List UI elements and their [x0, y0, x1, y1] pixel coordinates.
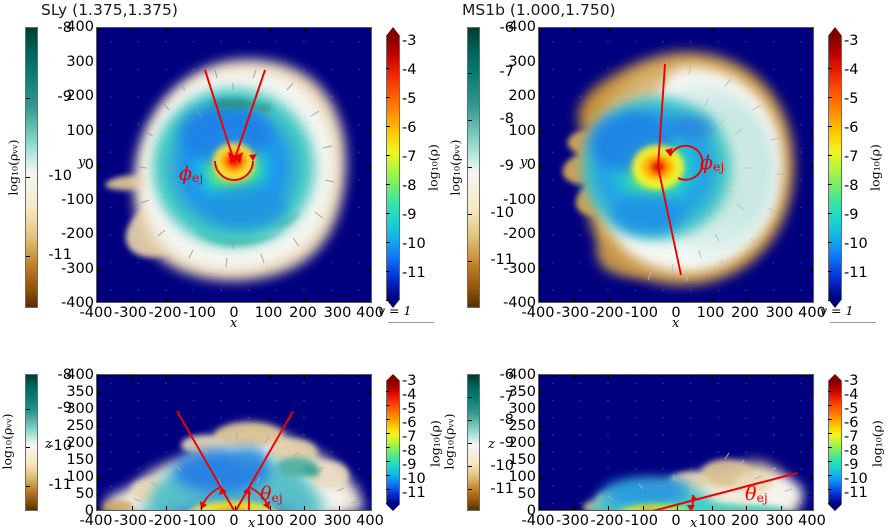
xtick-label-7-bottom-left: 300	[324, 513, 352, 529]
wind-cbar-label-top-right: log₁₀(ρᵥᵥ)	[448, 125, 463, 211]
panel-top-left: SLy (1.375,1.375) -8 -9 -10 -11 log₁₀(ρᵥ…	[0, 0, 445, 330]
density-colorbar-bottom-left	[386, 374, 400, 511]
xaxis-label-top-right: x	[672, 316, 679, 331]
theta-symbol-bottom-right: θ	[745, 483, 756, 505]
ztick-label-1-bottom-right: 50	[500, 486, 536, 502]
ytick-label-5-top-left: 100	[58, 123, 94, 139]
theta-ejecta-label-bottom-left: θej	[260, 483, 283, 505]
panel-title-top-left: SLy (1.375,1.375)	[41, 1, 178, 19]
xtick-label-6-bottom-right: 200	[731, 513, 759, 529]
xtick-label-7-top-left: 300	[324, 305, 352, 321]
density-map-bottom-left[interactable]	[96, 374, 372, 511]
phi-ejecta-angle-annotation-top-left	[97, 28, 371, 302]
density-cbar-label-bottom-right: log₁₀(ρ)	[870, 401, 885, 487]
ytick-label-7-top-left: 300	[58, 54, 94, 70]
ztick-label-6-bottom-left: 300	[58, 401, 94, 417]
density-cbar-tick-1-top-right: -4	[844, 62, 858, 78]
theta-symbol-bottom-left: θ	[260, 483, 271, 505]
xtick-label-6-top-right: 200	[731, 305, 759, 321]
density-cbar-label-text-bottom-right: log₁₀(ρ)	[870, 420, 885, 467]
ztick-label-4-bottom-left: 200	[58, 435, 94, 451]
zaxis-label-bottom-right: z	[488, 437, 495, 452]
theta-ejecta-angle-annotation-bottom-left	[97, 375, 371, 510]
xtick-label-0-bottom-left: -400	[80, 513, 113, 529]
phi-symbol-top-left: ϕ	[179, 163, 192, 185]
xtick-label-6-top-left: 200	[289, 305, 317, 321]
density-cbar-label-top-left: log₁₀(ρ)	[426, 125, 441, 211]
xtick-label-0-top-right: -400	[522, 305, 555, 321]
density-cbar-tick-8-top-left: -11	[402, 265, 426, 281]
ztick-label-3-bottom-right: 150	[500, 452, 536, 468]
theta-ejecta-label-bottom-right: θej	[745, 483, 768, 505]
quiver-key-label-top-right: v = 1	[820, 303, 853, 318]
xtick-label-8-bottom-left: 400	[356, 513, 384, 529]
density-cbar-tick-1-top-left: -4	[402, 62, 416, 78]
quiver-key-bar-top-right	[830, 322, 876, 323]
xtick-label-3-bottom-right: -100	[625, 513, 658, 529]
xtick-label-2-bottom-left: -200	[149, 513, 182, 529]
wind-cbar-label-bottom-right: log₁₀(ρᵥᵥ)	[442, 399, 457, 485]
ztick-label-7-bottom-left: 350	[58, 384, 94, 400]
density-cbar-tick-3-top-left: -6	[402, 120, 416, 136]
phi-ejecta-angle-annotation-top-right	[539, 28, 813, 302]
density-cbar-tick-4-top-right: -7	[844, 149, 858, 165]
velocity-quiver-bottom-right	[539, 375, 813, 510]
xtick-label-8-bottom-right: 400	[798, 513, 826, 529]
ztick-label-8-bottom-left: 400	[58, 367, 94, 383]
ytick-label-1-top-right: -300	[492, 261, 536, 277]
xtick-label-2-top-right: -200	[591, 305, 624, 321]
xtick-label-1-bottom-left: -300	[114, 513, 147, 529]
ytick-label-8-top-right: 400	[500, 19, 536, 35]
ztick-label-2-bottom-left: 100	[58, 469, 94, 485]
xtick-label-3-bottom-left: -100	[183, 513, 216, 529]
phi-subscript-top-right: ej	[713, 159, 724, 174]
xtick-label-6-bottom-left: 200	[289, 513, 317, 529]
ytick-label-3-top-right: -100	[492, 192, 536, 208]
xtick-label-2-top-left: -200	[149, 305, 182, 321]
xtick-label-5-bottom-left: 100	[256, 513, 284, 529]
density-cbar-label-text-bottom-left: log₁₀(ρ)	[428, 420, 443, 467]
theta-ejecta-angle-annotation-bottom-right	[539, 375, 813, 510]
xtick-label-2-bottom-right: -200	[591, 513, 624, 529]
density-map-bottom-right[interactable]	[538, 374, 814, 511]
density-cbar-tick-8-top-right: -11	[844, 265, 868, 281]
xtick-label-7-bottom-right: 300	[766, 513, 794, 529]
ytick-label-8-top-left: 400	[58, 19, 94, 35]
density-cbar-tick-8-bottom-left: -11	[402, 485, 426, 501]
density-cbar-label-bottom-left: log₁₀(ρ)	[428, 401, 443, 487]
quiver-key-label-top-left: v = 1	[378, 303, 411, 318]
figure-root: SLy (1.375,1.375) -8 -9 -10 -11 log₁₀(ρᵥ…	[0, 0, 890, 529]
xtick-label-3-top-left: -100	[183, 305, 216, 321]
velocity-quiver-top-right	[539, 28, 813, 302]
ztick-label-6-bottom-right: 300	[500, 401, 536, 417]
ejecta-field-bottom-left	[97, 375, 371, 510]
yaxis-label-top-right: y	[520, 155, 527, 170]
ejecta-field-top-left	[97, 28, 371, 302]
ztick-label-2-bottom-right: 100	[500, 469, 536, 485]
xtick-label-7-top-right: 300	[766, 305, 794, 321]
ytick-label-6-top-right: 200	[500, 88, 536, 104]
ytick-label-7-top-right: 300	[500, 54, 536, 70]
phi-ejecta-label-top-left: ϕej	[179, 163, 203, 185]
panel-bottom-right: -6 -7 -8 -9 -10 -11 log₁₀(ρᵥᵥ) 400 350 3…	[445, 364, 890, 529]
xaxis-label-top-left: x	[230, 316, 237, 331]
xtick-label-1-top-right: -300	[556, 305, 589, 321]
xtick-label-5-top-right: 100	[697, 305, 725, 321]
density-cbar-tick-6-top-left: -9	[402, 207, 416, 223]
density-cbar-tick-5-top-right: -8	[844, 178, 858, 194]
ztick-label-3-bottom-left: 150	[58, 452, 94, 468]
ytick-label-4-top-right: 0	[500, 157, 536, 173]
velocity-quiver-bottom-left	[97, 375, 371, 510]
zaxis-label-bottom-left: z	[45, 437, 52, 452]
wind-cbar-label-top-left: log₁₀(ρᵥᵥ)	[6, 125, 21, 211]
density-cbar-label-text-top-left: log₁₀(ρ)	[426, 144, 441, 191]
density-cbar-tick-0-top-right: -3	[844, 33, 858, 49]
density-cbar-tick-3-top-right: -6	[844, 120, 858, 136]
ytick-label-3-top-left: -100	[50, 192, 94, 208]
quiver-key-bar-top-left	[388, 322, 434, 323]
ztick-label-1-bottom-left: 50	[58, 486, 94, 502]
ejecta-field-top-right	[539, 28, 813, 302]
density-map-top-right[interactable]	[538, 27, 814, 303]
density-cbar-tick-7-top-left: -10	[402, 236, 426, 252]
density-colorbar-top-right	[828, 27, 842, 308]
phi-subscript-top-left: ej	[192, 170, 203, 185]
xtick-label-5-bottom-right: 100	[698, 513, 726, 529]
density-cbar-tick-8-bottom-right: -11	[844, 485, 868, 501]
ytick-label-1-top-left: -300	[50, 261, 94, 277]
ztick-label-8-bottom-right: 400	[500, 367, 536, 383]
density-cbar-tick-6-top-right: -9	[844, 207, 858, 223]
density-cbar-label-text-top-right: log₁₀(ρ)	[868, 144, 883, 191]
density-cbar-tick-7-top-right: -10	[844, 236, 868, 252]
panel-bottom-left: -8 -9 -10 -11 log₁₀(ρᵥᵥ) 400 350 300 250…	[0, 364, 445, 529]
ztick-label-7-bottom-right: 350	[500, 384, 536, 400]
panel-top-right: MS1b (1.000,1.750) -6 -7 -8 -9 -10 -11 l…	[445, 0, 890, 330]
ytick-label-2-top-right: -200	[492, 226, 536, 242]
ytick-label-6-top-left: 200	[58, 88, 94, 104]
density-cbar-label-top-right: log₁₀(ρ)	[868, 125, 883, 211]
xtick-label-3-top-right: -100	[625, 305, 658, 321]
xtick-label-4-bottom-right: 0	[671, 513, 680, 529]
velocity-quiver-top-left	[97, 28, 371, 302]
xtick-label-0-top-left: -400	[80, 305, 113, 321]
ejecta-field-bottom-right	[539, 375, 813, 510]
density-cbar-tick-0-top-left: -3	[402, 33, 416, 49]
ztick-label-5-bottom-right: 250	[500, 418, 536, 434]
density-cbar-tick-5-top-left: -8	[402, 178, 416, 194]
yaxis-label-top-left: y	[78, 155, 85, 170]
wind-cbar-label-bottom-left: log₁₀(ρᵥᵥ)	[0, 399, 15, 485]
density-cbar-tick-2-top-left: -5	[402, 91, 416, 107]
density-colorbar-top-left	[386, 27, 400, 308]
theta-subscript-bottom-left: ej	[271, 490, 282, 505]
ytick-label-4-top-left: 0	[58, 157, 94, 173]
xtick-label-0-bottom-right: -400	[522, 513, 555, 529]
xtick-label-4-bottom-left: 0	[229, 513, 238, 529]
density-cbar-tick-4-top-left: -7	[402, 149, 416, 165]
ytick-label-5-top-right: 100	[500, 123, 536, 139]
ztick-label-4-bottom-right: 200	[500, 435, 536, 451]
panel-title-top-right: MS1b (1.000,1.750)	[462, 1, 616, 19]
xtick-label-1-bottom-right: -300	[556, 513, 589, 529]
density-cbar-tick-2-top-right: -5	[844, 91, 858, 107]
ztick-label-5-bottom-left: 250	[58, 418, 94, 434]
phi-symbol-top-right: ϕ	[700, 152, 713, 174]
xtick-label-1-top-left: -300	[114, 305, 147, 321]
density-colorbar-bottom-right	[828, 374, 842, 511]
density-map-top-left[interactable]	[96, 27, 372, 303]
ytick-label-2-top-left: -200	[50, 226, 94, 242]
theta-subscript-bottom-right: ej	[756, 490, 767, 505]
phi-ejecta-label-top-right: ϕej	[700, 152, 724, 174]
xtick-label-5-top-left: 100	[255, 305, 283, 321]
